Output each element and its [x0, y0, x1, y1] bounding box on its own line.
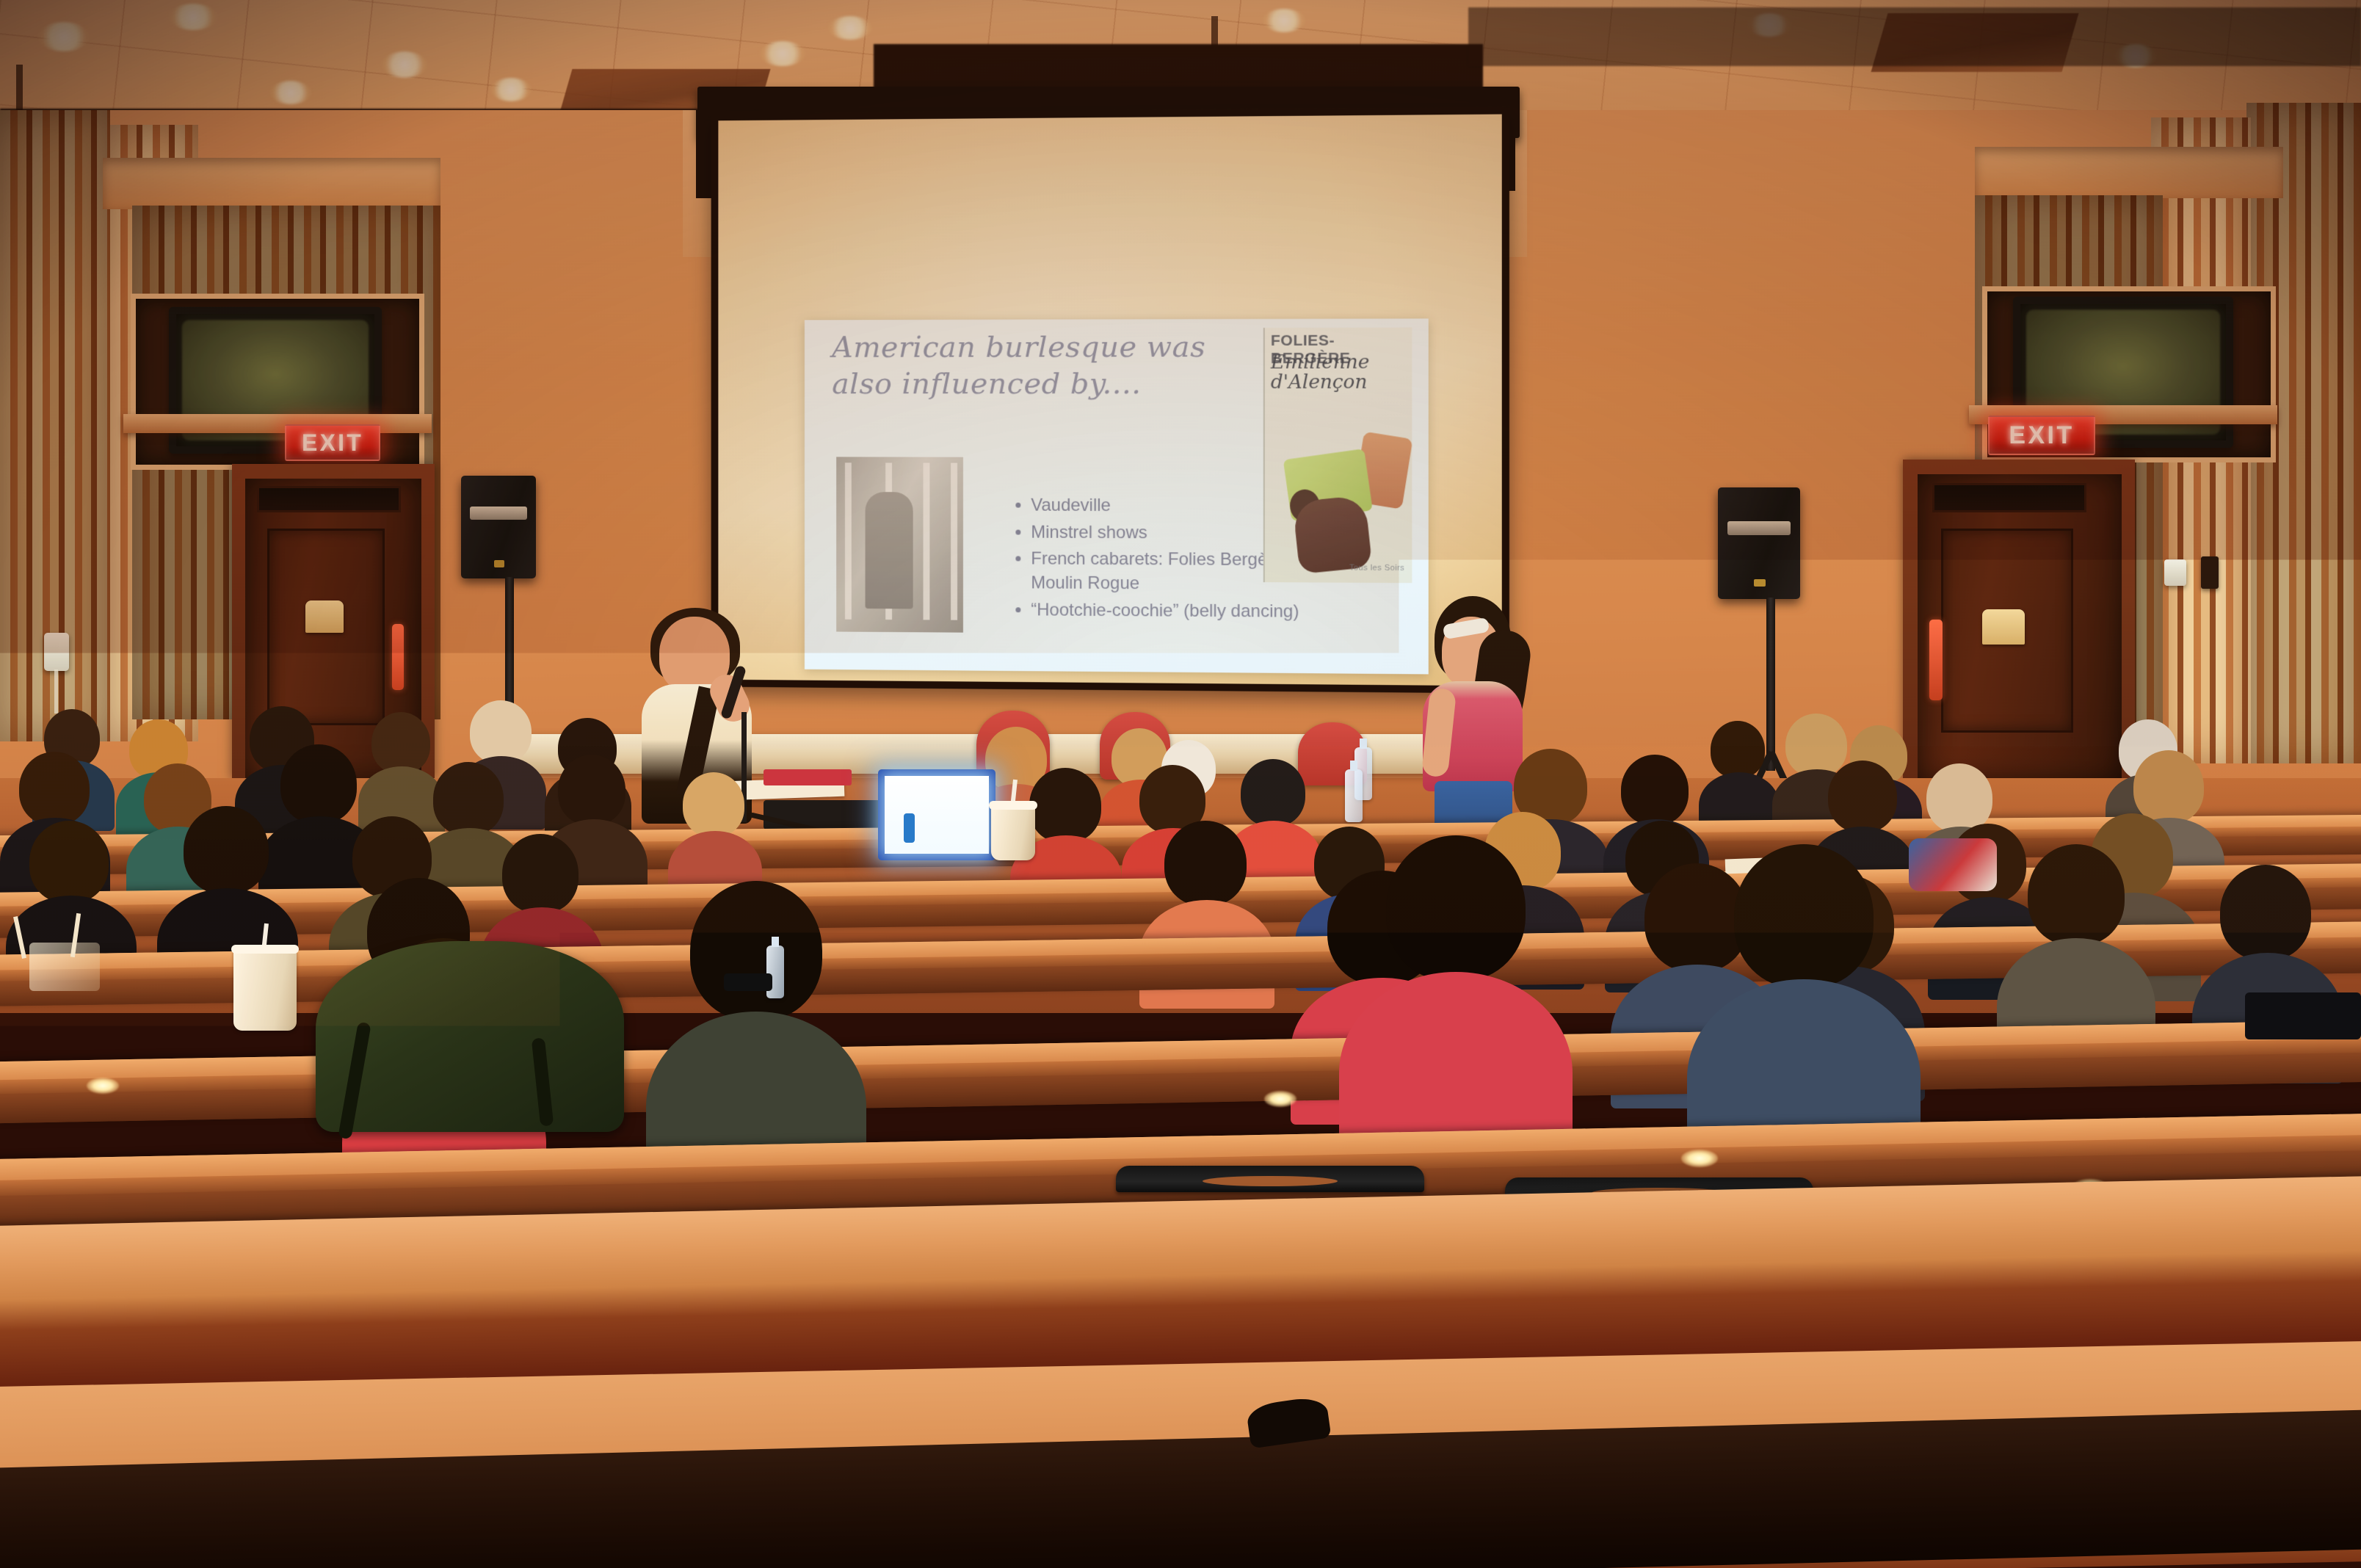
photograph-canvas: EXIT EXIT — [0, 0, 2361, 1568]
monitor-shelf-left — [123, 414, 432, 433]
ceiling-soffit — [1468, 7, 2361, 66]
door-plaque-left — [305, 600, 344, 633]
aisle-step-light — [1681, 1150, 1718, 1167]
exit-sign-left-label: EXIT — [302, 429, 363, 457]
poster-subject: Emilienne d'Alençon — [1271, 352, 1409, 393]
aisle-step-light — [1264, 1091, 1296, 1107]
wall-alcove-right — [1975, 147, 2283, 198]
exit-door-right[interactable] — [1918, 474, 2122, 783]
wall-light-switch[interactable] — [2164, 559, 2186, 586]
drink-cup — [233, 948, 297, 1031]
wall-alcove-left — [103, 158, 440, 209]
ceiling-downlight — [1263, 9, 1305, 32]
ceiling-downlight — [38, 22, 90, 51]
poster-caption: Tous les Soirs — [1349, 564, 1404, 573]
poster-artwork — [1265, 427, 1412, 583]
table-equipment-case — [764, 800, 881, 830]
exit-sign-right: EXIT — [1988, 415, 2095, 455]
door-crash-bar-right[interactable] — [1929, 620, 1943, 700]
poster-subject-line1: Emilienne — [1271, 351, 1369, 373]
ceiling-downlight — [760, 41, 805, 66]
table-binder — [764, 769, 852, 785]
screen-bracket-left — [696, 110, 712, 198]
exit-sign-left: EXIT — [285, 424, 380, 461]
drink-cup — [991, 805, 1035, 860]
speaker-stand-pole-right — [1766, 598, 1775, 771]
slide-folies-bergere-poster: FOLIES-BERGÈRE Emilienne d'Alençon Tous … — [1263, 327, 1412, 583]
desk-bag — [1909, 838, 1997, 891]
water-bottle — [1345, 769, 1363, 822]
door-plaque-right — [1982, 609, 2025, 645]
pa-speaker-left — [461, 476, 536, 578]
desk-glass — [29, 943, 100, 991]
slide-title: American burlesque was also influenced b… — [832, 330, 1241, 403]
folded-seat-back[interactable] — [1116, 1166, 1424, 1192]
wall-phone-cord — [54, 669, 58, 714]
door-crash-bar-left[interactable] — [392, 624, 404, 690]
exit-sign-right-label: EXIT — [2009, 421, 2074, 450]
wall-phone[interactable] — [44, 633, 69, 671]
slide-bullet: “Hootchie-coochie” (belly dancing) — [1031, 598, 1331, 624]
laptop-screen — [885, 776, 989, 854]
green-backpack — [316, 941, 624, 1132]
audience-laptop[interactable] — [878, 769, 995, 860]
ceiling-downlight — [490, 78, 532, 101]
aisle-step-light — [87, 1078, 119, 1094]
presentation-slide: American burlesque was also influenced b… — [805, 319, 1429, 675]
slide-archival-photo — [836, 457, 963, 632]
projection-screen: American burlesque was also influenced b… — [711, 106, 1509, 693]
ceiling-downlight — [169, 4, 217, 30]
poster-subject-line2: d'Alençon — [1271, 371, 1368, 393]
door-window-right — [1932, 483, 2086, 512]
ceiling-downlight — [382, 51, 427, 78]
desk-phone[interactable] — [724, 973, 772, 991]
ceiling-downlight — [828, 16, 872, 40]
wall-junction-box — [2201, 556, 2219, 589]
pa-speaker-right — [1718, 487, 1800, 599]
copyright-watermark: © Photogenic Theatron - P. Crandall Polk — [13, 1480, 1066, 1559]
desk-dark-object — [2245, 992, 2361, 1039]
ceiling-downlight — [270, 81, 311, 104]
door-window-left — [257, 486, 401, 512]
